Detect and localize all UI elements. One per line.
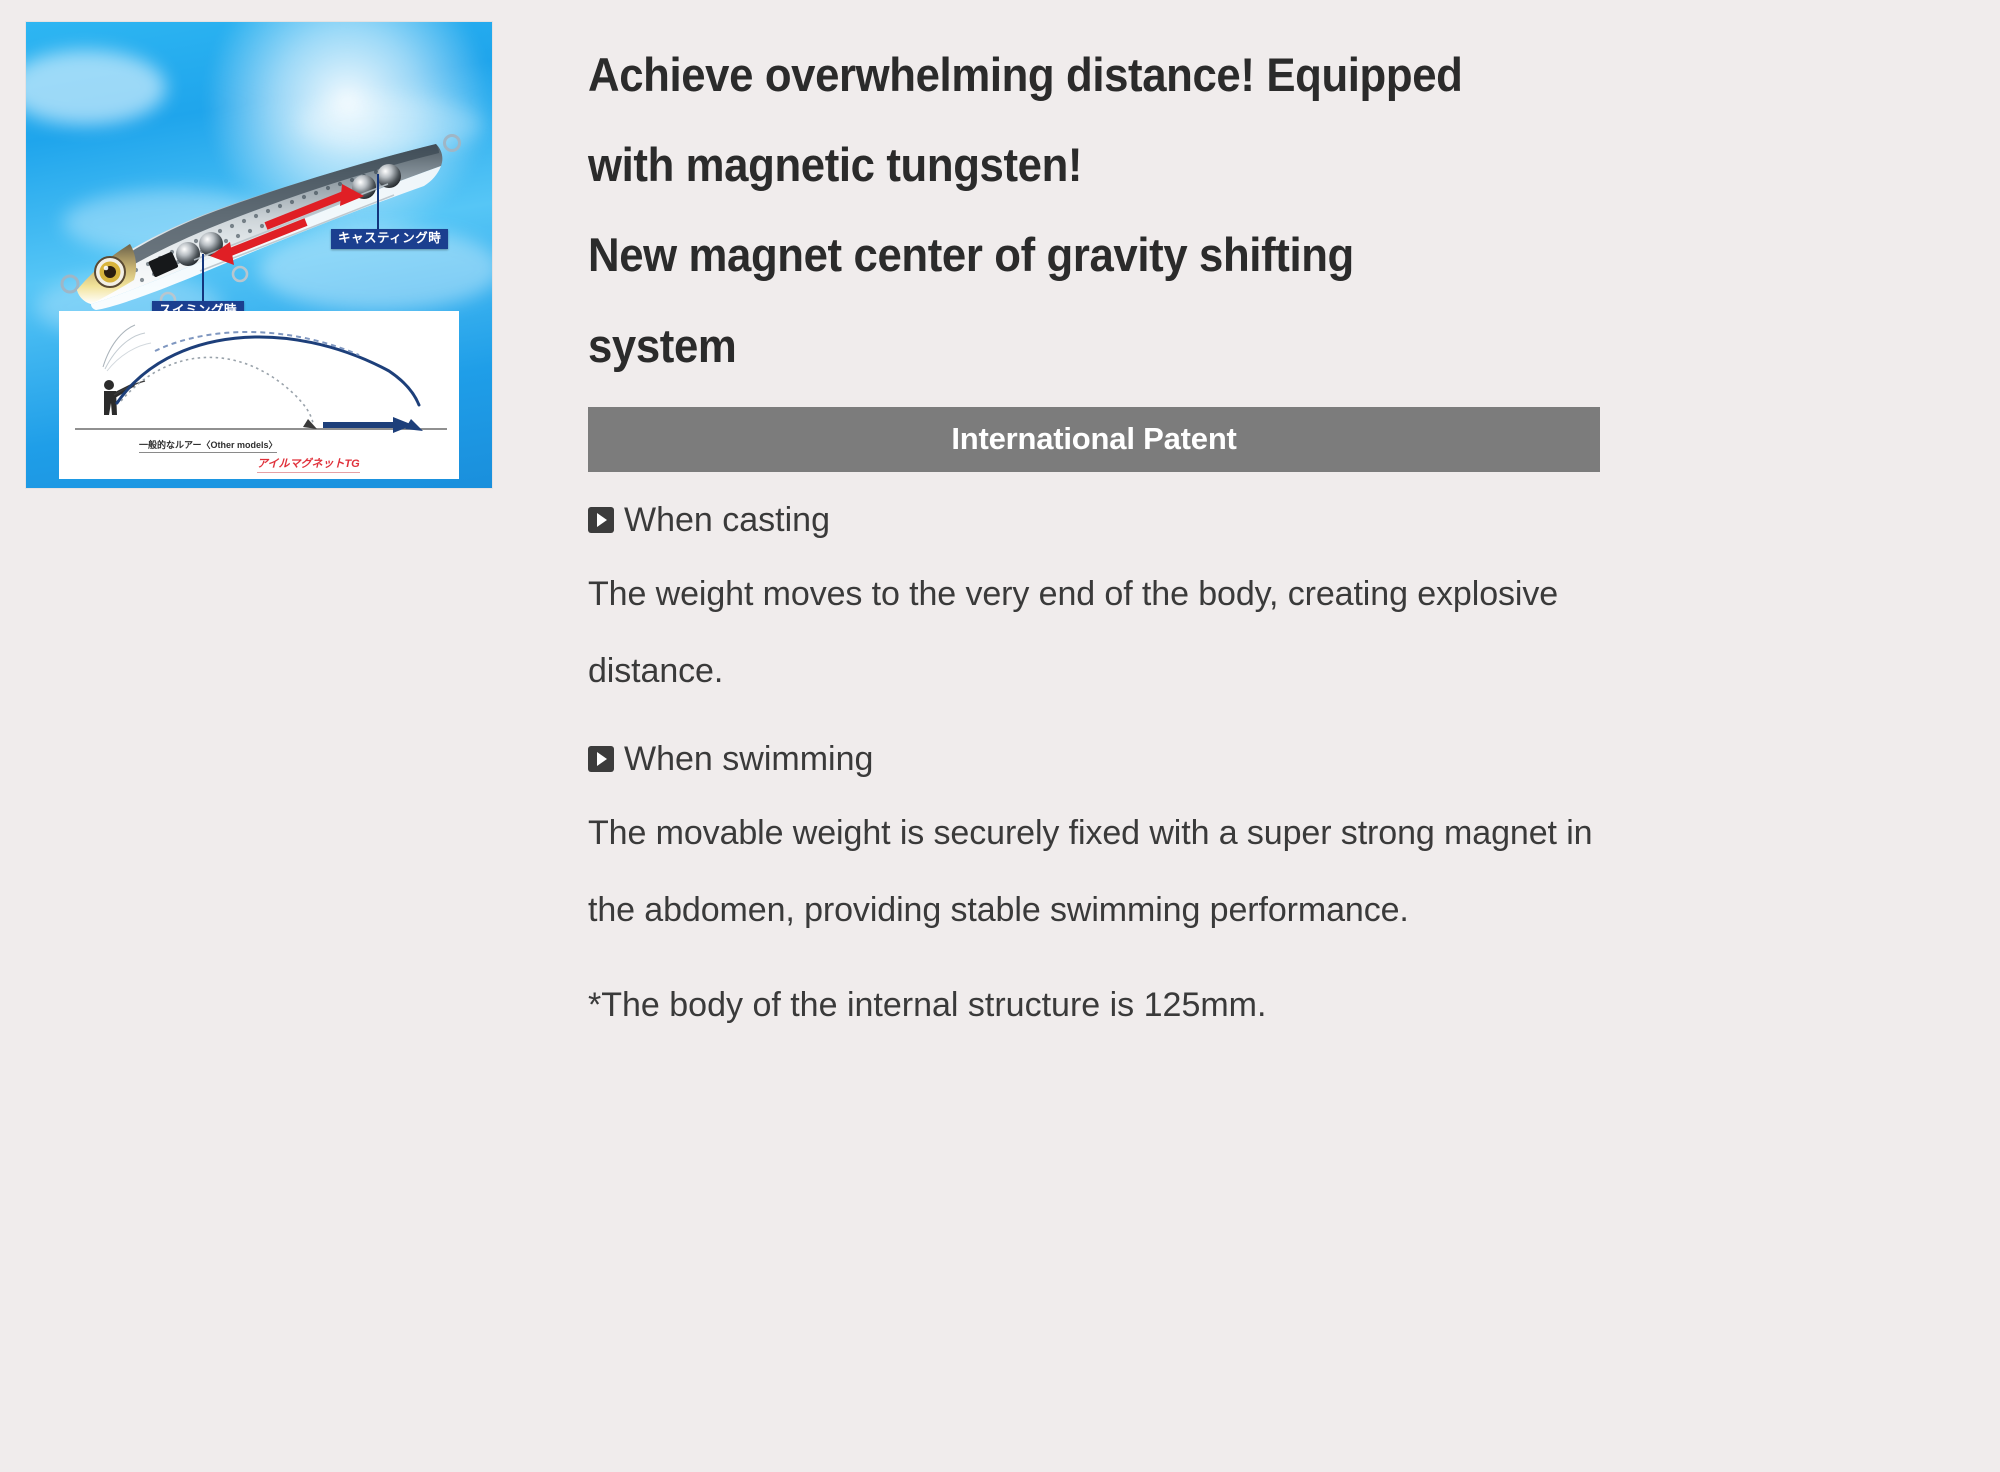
headline-line-3: New magnet center of gravity shifting xyxy=(588,210,1860,300)
section-body-swimming: The movable weight is securely fixed wit… xyxy=(588,795,1648,950)
casting-distance-chart: 一般的なルアー〈Other models〉 アイルマグネットTG xyxy=(59,311,459,479)
lure-svg xyxy=(44,114,474,314)
section-heading-swimming: When swimming xyxy=(588,725,1956,793)
product-image-column: キャスティング時 スイミング時 xyxy=(0,0,560,488)
page-title: Achieve overwhelming distance! Equipped … xyxy=(588,30,1860,391)
play-triangle-icon xyxy=(588,507,614,533)
section-heading-casting: When casting xyxy=(588,486,1956,554)
lure-illustration xyxy=(44,114,474,314)
label-casting: キャスティング時 xyxy=(331,229,448,249)
section-heading-casting-label: When casting xyxy=(624,486,830,554)
headline-line-2: with magnetic tungsten! xyxy=(588,120,1860,210)
product-feature-panel: キャスティング時 スイミング時 xyxy=(0,0,2000,1472)
callout-leader-swimming xyxy=(202,254,204,301)
section-when-swimming: When swimming The movable weight is secu… xyxy=(588,725,1956,950)
footnote-internal-structure: *The body of the internal structure is 1… xyxy=(588,968,1956,1043)
headline-line-4: system xyxy=(588,301,1860,391)
section-body-casting: The weight moves to the very end of the … xyxy=(588,556,1638,711)
chart-label-this-model: アイルマグネットTG xyxy=(257,459,360,473)
section-when-casting: When casting The weight moves to the ver… xyxy=(588,486,1956,711)
lure-diagram-image: キャスティング時 スイミング時 xyxy=(26,22,492,488)
international-patent-banner: International Patent xyxy=(588,407,1600,472)
copy-column: Achieve overwhelming distance! Equipped … xyxy=(560,0,2000,1043)
section-heading-swimming-label: When swimming xyxy=(624,725,873,793)
callout-leader-casting xyxy=(377,174,379,229)
play-triangle-icon xyxy=(588,746,614,772)
chart-label-other-models: 一般的なルアー〈Other models〉 xyxy=(139,441,277,453)
headline-line-1: Achieve overwhelming distance! Equipped xyxy=(588,30,1860,120)
trajectory-svg xyxy=(59,311,459,479)
